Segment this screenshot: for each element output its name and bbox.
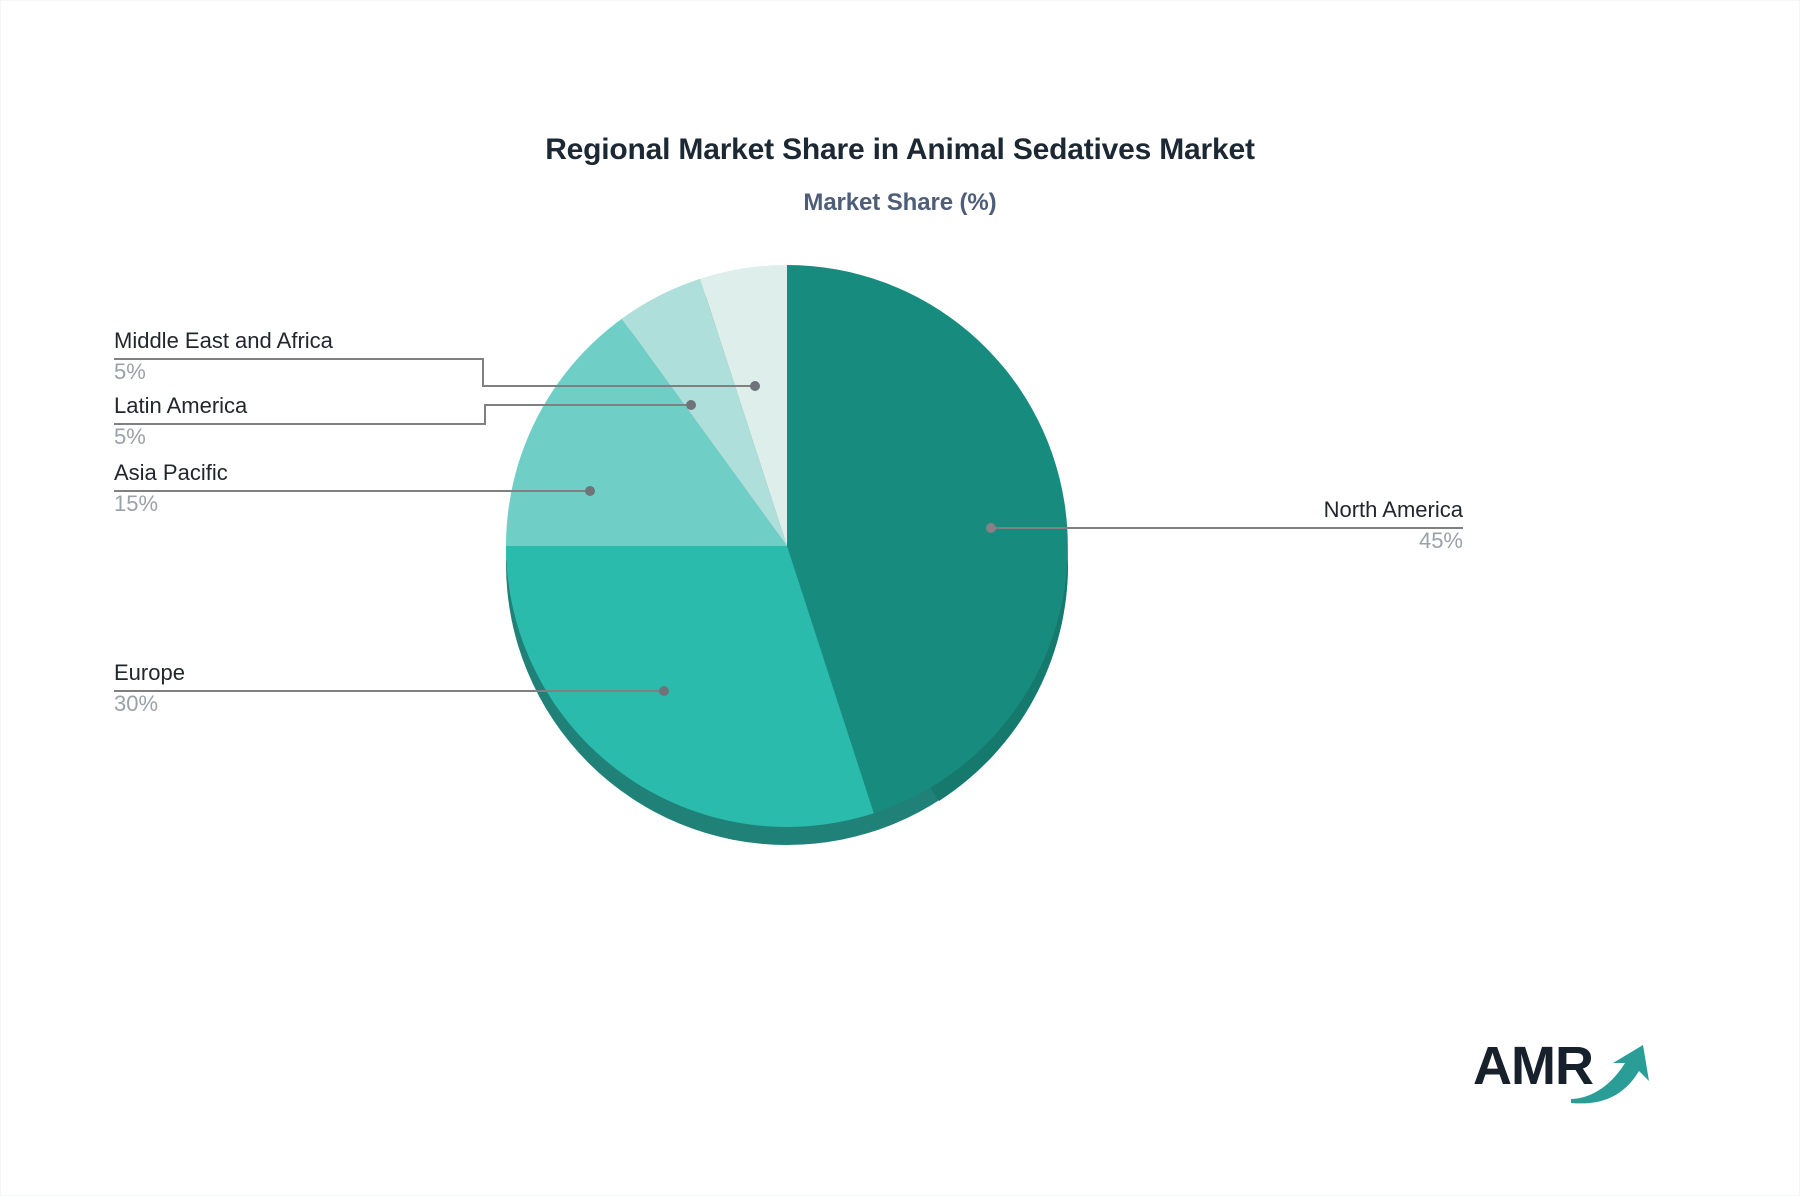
callout-value-middle-east-africa: 5% — [114, 356, 514, 388]
callout-europe[interactable]: Europe 30% — [114, 658, 514, 720]
callout-value-latin-america: 5% — [114, 421, 514, 453]
amr-logo: AMR — [1473, 1037, 1653, 1109]
pie-chart-graphic — [1, 1, 1800, 1196]
callout-middle-east-africa[interactable]: Middle East and Africa 5% — [114, 326, 514, 388]
callout-value-north-america: 45% — [1063, 525, 1463, 557]
callout-label-europe: Europe — [114, 658, 514, 688]
callout-label-asia-pacific: Asia Pacific — [114, 458, 514, 488]
callout-label-latin-america: Latin America — [114, 391, 514, 421]
callout-label-middle-east-africa: Middle East and Africa — [114, 326, 514, 356]
callout-label-north-america: North America — [1063, 495, 1463, 525]
callout-north-america[interactable]: North America 45% — [1063, 495, 1463, 557]
callout-value-europe: 30% — [114, 688, 514, 720]
pie-slices — [506, 265, 1068, 827]
callout-latin-america[interactable]: Latin America 5% — [114, 391, 514, 453]
growth-arrow-icon — [1569, 1043, 1653, 1105]
chart-canvas: Regional Market Share in Animal Sedative… — [0, 0, 1800, 1196]
callout-value-asia-pacific: 15% — [114, 488, 514, 520]
callout-asia-pacific[interactable]: Asia Pacific 15% — [114, 458, 514, 520]
